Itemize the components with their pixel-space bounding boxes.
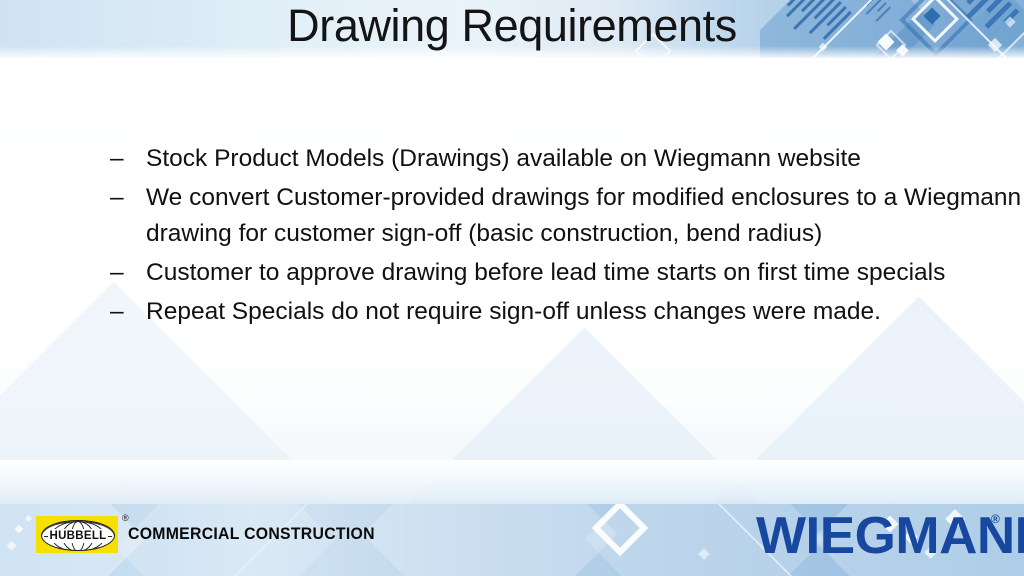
bullet-list: – Stock Product Models (Drawings) availa… bbox=[110, 141, 1022, 333]
slide: Drawing Requirements – Stock Product Mod… bbox=[0, 0, 1024, 576]
hubbell-wordmark: HUBBELL bbox=[42, 530, 114, 542]
list-item: – We convert Customer-provided drawings … bbox=[110, 180, 1022, 252]
wiegmann-wordmark: WIEGMANN bbox=[756, 508, 1024, 564]
bullet-marker: – bbox=[110, 294, 146, 330]
list-item: – Repeat Specials do not require sign-of… bbox=[110, 294, 1022, 330]
bullet-text: Stock Product Models (Drawings) availabl… bbox=[146, 141, 1022, 177]
division-label: COMMERCIAL CONSTRUCTION bbox=[128, 524, 375, 544]
bullet-marker: – bbox=[110, 141, 146, 177]
page-title: Drawing Requirements bbox=[0, 0, 1024, 55]
hubbell-logo: HUBBELL bbox=[36, 516, 118, 553]
bullet-text: Repeat Specials do not require sign-off … bbox=[146, 294, 1022, 330]
bullet-text: We convert Customer-provided drawings fo… bbox=[146, 180, 1022, 252]
list-item: – Customer to approve drawing before lea… bbox=[110, 255, 1022, 291]
bottom-band-transition bbox=[0, 460, 1024, 504]
hubbell-registered-mark: ® bbox=[122, 513, 129, 523]
bottom-wedge-3 bbox=[363, 504, 618, 576]
bullet-marker: – bbox=[110, 180, 146, 216]
bullet-marker: – bbox=[110, 255, 146, 291]
bullet-text: Customer to approve drawing before lead … bbox=[146, 255, 1022, 291]
wiegmann-registered-mark: ® bbox=[991, 512, 1000, 526]
hubbell-globe-icon: HUBBELL bbox=[41, 520, 115, 551]
list-item: – Stock Product Models (Drawings) availa… bbox=[110, 141, 1022, 177]
